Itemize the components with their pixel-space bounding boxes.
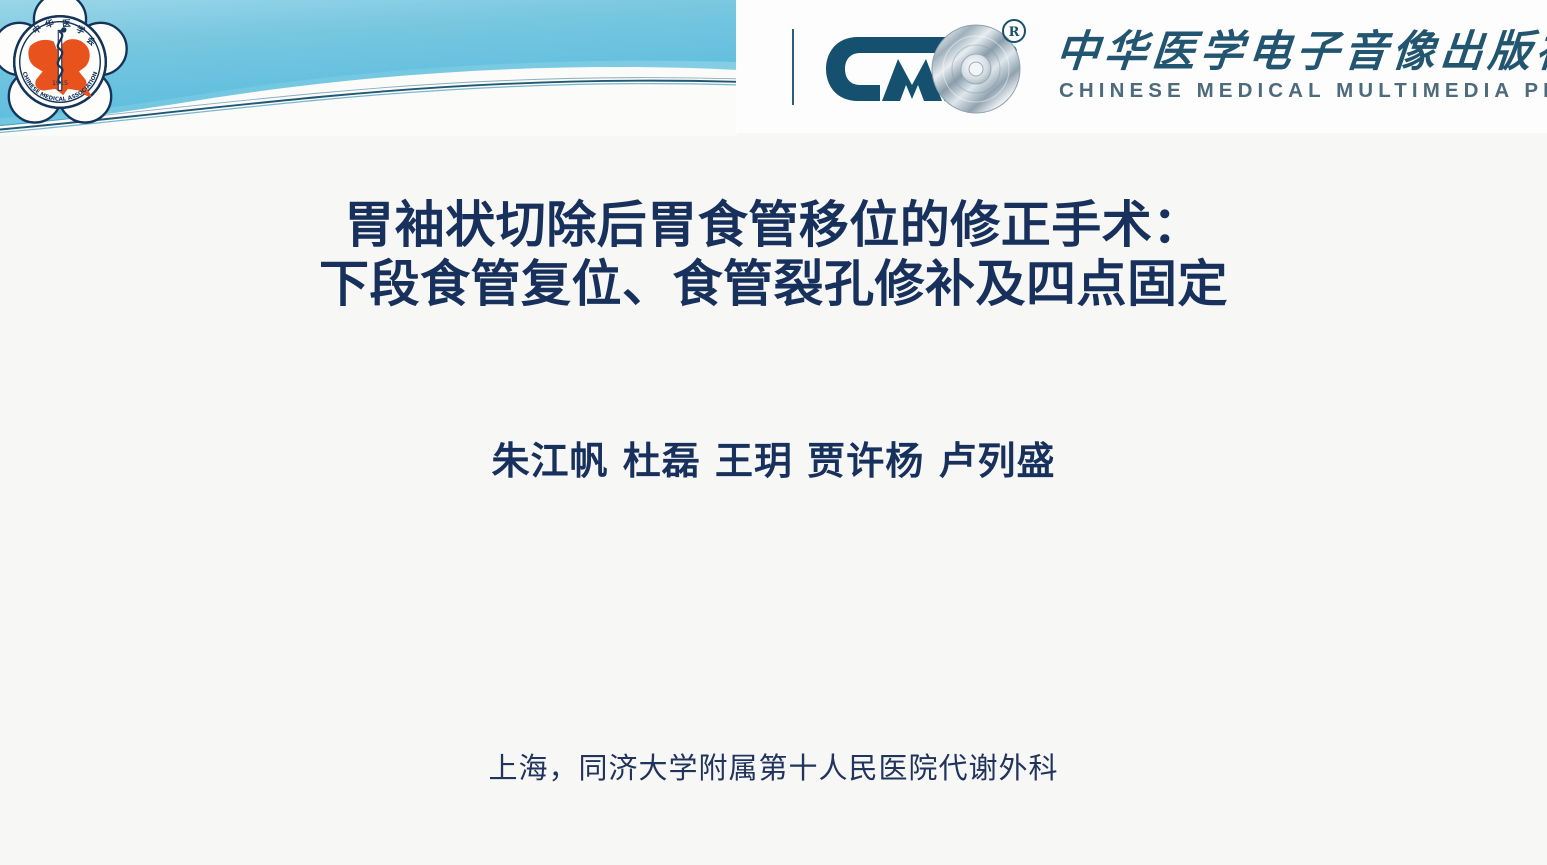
decorative-banner: 中 华 医 学 会 1915 CHINESE MEDICAL ASSOCIATI…	[0, 0, 737, 136]
svg-text:R: R	[1009, 25, 1020, 40]
svg-text:医: 医	[62, 19, 72, 29]
press-name-cn: 中华医学电子音像出版社	[1054, 30, 1547, 75]
presentation-title-slide: 中 华 医 学 会 1915 CHINESE MEDICAL ASSOCIATI…	[0, 0, 1547, 865]
press-name-en: CHINESE MEDICAL MULTIMEDIA PRESS	[1056, 79, 1547, 103]
title-line-1: 胃袖状切除后胃食管移位的修正手术：	[0, 196, 1547, 255]
cma-wordmark-with-disc: R	[820, 15, 1032, 119]
cma-disc-graphic: R	[820, 15, 1032, 119]
vertical-divider-icon	[792, 29, 794, 105]
affiliation-text: 上海，同济大学附属第十人民医院代谢外科	[0, 745, 1547, 787]
seal-year: 1915	[52, 80, 68, 87]
page-title: 胃袖状切除后胃食管移位的修正手术： 下段食管复位、食管裂孔修补及四点固定	[0, 196, 1547, 314]
press-name-block: 中华医学电子音像出版社 CHINESE MEDICAL MULTIMEDIA P…	[1056, 30, 1547, 103]
title-line-2: 下段食管复位、食管裂孔修补及四点固定	[0, 255, 1547, 314]
author-list: 朱江帆 杜磊 王玥 贾许杨 卢列盛	[0, 430, 1547, 485]
publisher-logo-bar: 中 华 医 学 会 1915 CHINESE MEDICAL ASSOCIATI…	[736, 0, 1547, 133]
banner-graphic: 中 华 医 学 会 1915 CHINESE MEDICAL ASSOCIATI…	[0, 0, 737, 136]
registered-trademark-icon: R	[1003, 20, 1025, 42]
